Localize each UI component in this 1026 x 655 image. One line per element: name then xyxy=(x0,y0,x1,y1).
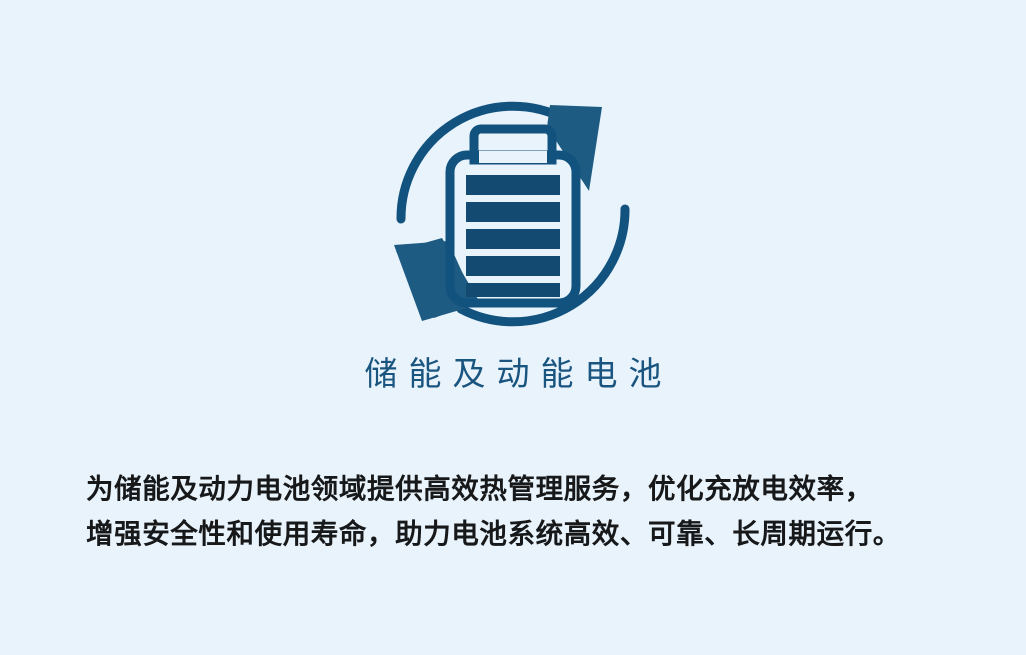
page-title: 储能及动能电池 xyxy=(0,350,1026,398)
battery-feature-card: 储能及动能电池 为储能及动力电池领域提供高效热管理服务，优化充放电效率， 增强安… xyxy=(0,0,1026,655)
battery-recycle-icon xyxy=(382,83,644,345)
battery-cap-junction-mask xyxy=(479,151,547,163)
battery-cell xyxy=(466,202,560,222)
description-line: 为储能及动力电池领域提供高效热管理服务，优化充放电效率， xyxy=(86,466,986,511)
battery-cell xyxy=(466,229,560,249)
description-line: 增强安全性和使用寿命，助力电池系统高效、可靠、长周期运行。 xyxy=(86,511,986,556)
description-text: 为储能及动力电池领域提供高效热管理服务，优化充放电效率， 增强安全性和使用寿命，… xyxy=(86,466,986,556)
battery-cell xyxy=(466,175,560,195)
battery-cell xyxy=(466,256,560,276)
battery-cell xyxy=(466,283,560,297)
